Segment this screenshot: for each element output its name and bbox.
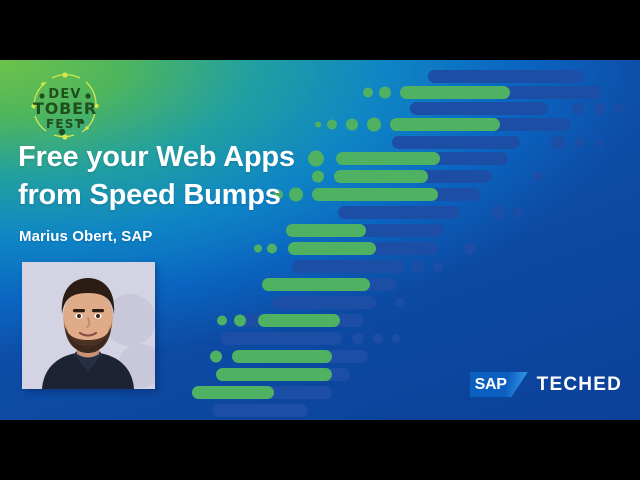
session-title-line-2: from Speed Bumps — [18, 176, 295, 214]
badge-line2: TOBER — [33, 99, 97, 118]
devtoberfest-logo: DEV TOBER FEST — [16, 64, 112, 146]
badge-line3: FEST — [46, 117, 84, 131]
speaker-name: Marius Obert, SAP — [19, 228, 152, 245]
teched-wordmark: TECHED — [537, 374, 622, 396]
sap-logo-mark: SAP — [470, 372, 528, 397]
letterbox-bar-bottom — [0, 420, 640, 480]
slide-root: DEV TOBER FEST Free your Web Apps from S… — [0, 0, 640, 480]
session-title: Free your Web Apps from Speed Bumps — [18, 138, 295, 215]
letterbox-bar-top — [0, 0, 640, 60]
session-title-line-1: Free your Web Apps — [18, 141, 295, 173]
sap-logo-text: SAP — [470, 376, 507, 394]
speaker-headshot-photo — [22, 262, 155, 389]
sap-teched-logo: SAP TECHED — [470, 372, 622, 397]
slide-artwork-stage: DEV TOBER FEST Free your Web Apps from S… — [0, 60, 640, 420]
